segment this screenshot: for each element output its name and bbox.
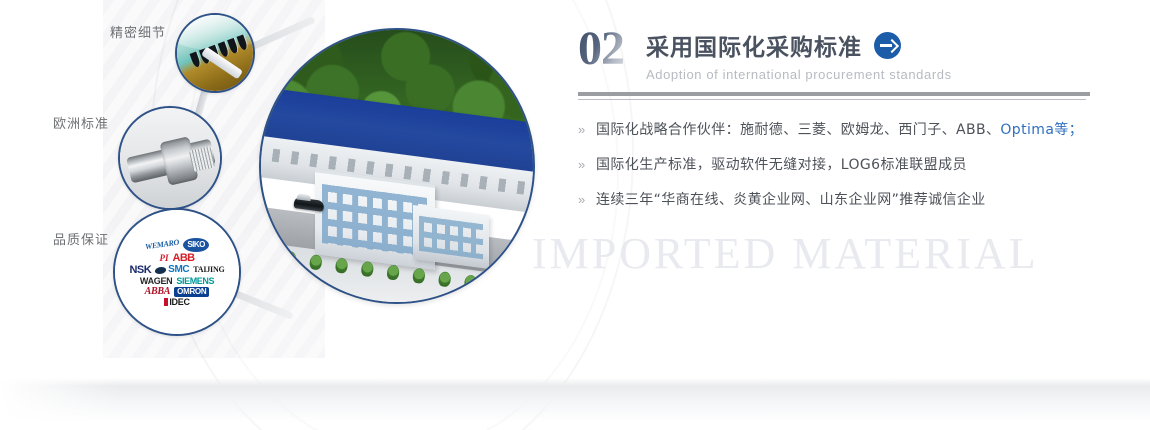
smc-swoosh-icon	[154, 267, 167, 274]
list-item-text: 连续三年“华商在线、炎黄企业网、山东企业网”推荐诚信企业	[596, 190, 986, 210]
section-title-row: 采用国际化采购标准	[646, 28, 952, 62]
logo-nsk: NSK	[129, 265, 151, 276]
promo-banner: 精密细节 欧洲标准 品质保证 WEMARO SIKO PI	[0, 0, 1150, 430]
content-column: 02 采用国际化采购标准 Adoption of international p…	[578, 0, 1118, 430]
section-header-text: 采用国际化采购标准 Adoption of international proc…	[630, 26, 952, 82]
bubble-precision-macro[interactable]	[175, 13, 255, 93]
logo-pi: PI	[159, 254, 168, 263]
section-number: 02	[578, 26, 630, 72]
section-header: 02 采用国际化采购标准 Adoption of international p…	[578, 26, 952, 82]
divider-thin-rule	[578, 99, 1086, 100]
brand-row: IDEC	[164, 298, 189, 307]
list-item-text-pre: 国际化战略合作伙伴：施耐德、三菱、欧姆龙、西门子、ABB、	[596, 122, 1000, 138]
label-quality-assurance: 品质保证	[53, 229, 109, 248]
brand-row: NSK SMC TAIJING	[129, 265, 224, 276]
list-item: » 连续三年“华商在线、炎黄企业网、山东企业网”推荐诚信企业	[578, 190, 1098, 210]
brand-row: ABBA OMRON	[145, 287, 210, 297]
logo-smc: SMC	[168, 265, 189, 275]
header-divider	[578, 92, 1090, 100]
logo-idec: IDEC	[164, 298, 189, 307]
logo-omron: OMRON	[174, 287, 209, 297]
brand-logo-grid: WEMARO SIKO PI ABB NSK SMC TAIJING WAGEN…	[115, 210, 239, 334]
watermark-text: IMPORTED MATERIAL	[532, 228, 1039, 279]
list-item-text-pre: 国际化生产标准，驱动软件无缝对接，LOG6标准联盟成员	[596, 157, 967, 173]
label-precision-detail: 精密细节	[110, 22, 166, 41]
list-item-text: 国际化战略合作伙伴：施耐德、三菱、欧姆龙、西门子、ABB、Optima等；	[596, 120, 1083, 140]
logo-abb: ABB	[172, 253, 194, 264]
logo-taijing: TAIJING	[193, 266, 224, 274]
hero-factory-photo[interactable]	[259, 28, 535, 304]
bubble-brand-logos[interactable]: WEMARO SIKO PI ABB NSK SMC TAIJING WAGEN…	[113, 208, 241, 336]
brand-row: WEMARO SIKO	[145, 238, 209, 252]
logo-siko: SIKO	[183, 238, 209, 252]
list-item: » 国际化生产标准，驱动软件无缝对接，LOG6标准联盟成员	[578, 155, 1098, 175]
logo-wagen: WAGEN	[140, 277, 173, 286]
bullet-chevron-icon: »	[578, 120, 596, 140]
bubble-ball-screw[interactable]	[118, 106, 222, 210]
logo-wemaro: WEMARO	[145, 238, 180, 251]
logo-siemens: SIEMENS	[176, 277, 214, 286]
bullet-chevron-icon: »	[578, 155, 596, 175]
label-european-standard: 欧洲标准	[53, 113, 109, 132]
list-item-text: 国际化生产标准，驱动软件无缝对接，LOG6标准联盟成员	[596, 155, 967, 175]
bullet-chevron-icon: »	[578, 190, 596, 210]
feature-list: » 国际化战略合作伙伴：施耐德、三菱、欧姆龙、西门子、ABB、Optima等； …	[578, 120, 1098, 225]
divider-thick-rule	[578, 92, 1090, 96]
list-item: » 国际化战略合作伙伴：施耐德、三菱、欧姆龙、西门子、ABB、Optima等；	[578, 120, 1098, 140]
section-title-cn: 采用国际化采购标准	[646, 28, 862, 62]
brand-row: WAGEN SIEMENS	[140, 277, 214, 286]
logo-abba: ABBA	[145, 287, 170, 297]
list-item-text-pre: 连续三年“华商在线、炎黄企业网、山东企业网”推荐诚信企业	[596, 192, 986, 208]
arrow-right-circle-icon[interactable]	[874, 32, 901, 59]
section-title-en: Adoption of international procurement st…	[646, 67, 952, 82]
bottom-decorative-band	[0, 378, 1150, 422]
brand-row: PI ABB	[159, 253, 194, 264]
list-item-highlight: Optima等；	[1000, 122, 1083, 138]
